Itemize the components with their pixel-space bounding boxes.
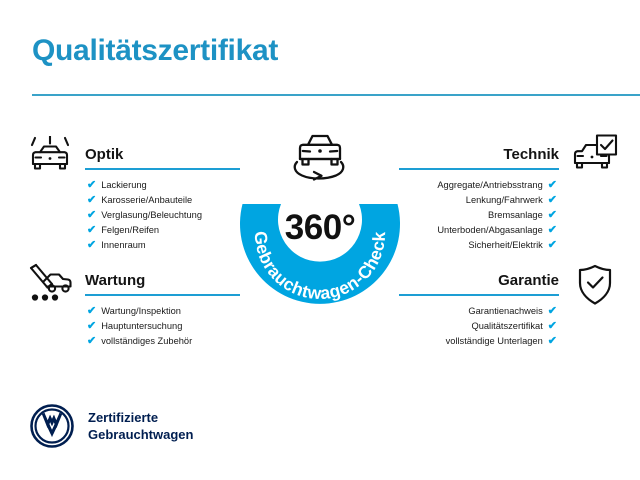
section-technik-list: Aggregate/Antriebsstrang✔ Lenkung/Fahrwe…: [437, 178, 557, 253]
footer-line-2: Gebrauchtwagen: [88, 426, 193, 443]
list-item-label: Bremsanlage: [488, 208, 543, 223]
car-checkbox-icon: [569, 133, 619, 182]
list-item-label: Innenraum: [101, 238, 145, 253]
list-item-label: Garantienachweis: [468, 304, 542, 319]
list-item: Qualitätszertifikat✔: [446, 319, 557, 334]
list-item-label: Qualitätszertifikat: [471, 319, 542, 334]
list-item: vollständige Unterlagen✔: [446, 334, 557, 349]
car-rotate-icon: [280, 118, 360, 195]
check-icon: ✔: [87, 195, 96, 206]
check-icon: ✔: [548, 195, 557, 206]
list-item: ✔vollständiges Zubehör: [87, 334, 192, 349]
section-wartung-title: Wartung: [85, 272, 145, 289]
check-icon: ✔: [548, 240, 557, 251]
check-icon: ✔: [87, 225, 96, 236]
list-item-label: Verglasung/Beleuchtung: [101, 208, 202, 223]
section-optik-list: ✔Lackierung ✔Karosserie/Anbauteile ✔Verg…: [87, 178, 202, 253]
vw-logo: [30, 404, 74, 448]
list-item-label: Lackierung: [101, 178, 146, 193]
list-item-label: vollständiges Zubehör: [101, 334, 192, 349]
section-garantie-header: Garantie: [399, 272, 559, 298]
check-icon: ✔: [548, 210, 557, 221]
list-item-label: Unterboden/Abgasanlage: [437, 223, 542, 238]
section-technik-divider: [399, 168, 559, 170]
list-item-label: Wartung/Inspektion: [101, 304, 181, 319]
list-item: Aggregate/Antriebsstrang✔: [437, 178, 557, 193]
list-item: Garantienachweis✔: [446, 304, 557, 319]
check-icon: ✔: [87, 240, 96, 251]
list-item: ✔Lackierung: [87, 178, 202, 193]
footer-wordmark: Zertifizierte Gebrauchtwagen: [88, 409, 193, 443]
check-icon: ✔: [548, 306, 557, 317]
footer-line-1: Zertifizierte: [88, 409, 193, 426]
list-item: ✔Wartung/Inspektion: [87, 304, 192, 319]
list-item: Unterboden/Abgasanlage✔: [437, 223, 557, 238]
list-item-label: Sicherheit/Elektrik: [468, 238, 542, 253]
list-item: Bremsanlage✔: [437, 208, 557, 223]
check-icon: ✔: [87, 210, 96, 221]
section-technik-header: Technik: [399, 146, 559, 172]
section-optik-title: Optik: [85, 146, 123, 163]
list-item-label: Lenkung/Fahrwerk: [466, 193, 543, 208]
section-wartung-divider: [85, 294, 240, 296]
section-technik: Technik Aggregate/Antriebsstrang✔ Lenkun…: [399, 146, 559, 172]
section-wartung: Wartung ✔Wartung/Inspektion ✔Hauptunters…: [85, 272, 243, 298]
page-title: Qualitätszertifikat: [32, 34, 278, 68]
list-item: Lenkung/Fahrwerk✔: [437, 193, 557, 208]
check-icon: ✔: [548, 180, 557, 191]
list-item: ✔Innenraum: [87, 238, 202, 253]
section-garantie-list: Garantienachweis✔ Qualitätszertifikat✔ v…: [446, 304, 557, 349]
list-item-label: Hauptuntersuchung: [101, 319, 182, 334]
list-item: ✔Karosserie/Anbauteile: [87, 193, 202, 208]
check-icon: ✔: [87, 306, 96, 317]
service-book-car-icon: [26, 263, 74, 310]
list-item: ✔Verglasung/Beleuchtung: [87, 208, 202, 223]
list-item: ✔Hauptuntersuchung: [87, 319, 192, 334]
section-wartung-header: Wartung: [85, 272, 243, 298]
check-icon: ✔: [87, 321, 96, 332]
section-garantie: Garantie Garantienachweis✔ Qualitätszert…: [399, 272, 559, 298]
section-garantie-divider: [399, 294, 559, 296]
list-item-label: Aggregate/Antriebsstrang: [437, 178, 542, 193]
car-shine-icon: [26, 136, 74, 183]
section-optik-header: Optik: [85, 146, 243, 172]
list-item-label: Karosserie/Anbauteile: [101, 193, 192, 208]
list-item: Sicherheit/Elektrik✔: [437, 238, 557, 253]
section-technik-title: Technik: [503, 146, 559, 163]
check-icon: ✔: [87, 336, 96, 347]
check-icon: ✔: [87, 180, 96, 191]
list-item-label: Felgen/Reifen: [101, 223, 159, 238]
check-icon: ✔: [548, 336, 557, 347]
check-icon: ✔: [548, 225, 557, 236]
list-item: ✔Felgen/Reifen: [87, 223, 202, 238]
qualitaetszertifikat-page: Qualitätszertifikat: [0, 0, 640, 480]
footer-branding: Zertifizierte Gebrauchtwagen: [30, 404, 193, 448]
check-icon: ✔: [548, 321, 557, 332]
section-wartung-list: ✔Wartung/Inspektion ✔Hauptuntersuchung ✔…: [87, 304, 192, 349]
section-garantie-title: Garantie: [498, 272, 559, 289]
section-optik: Optik ✔Lackierung ✔Karosserie/Anbauteile…: [85, 146, 243, 172]
header-divider: [32, 94, 640, 96]
list-item-label: vollständige Unterlagen: [446, 334, 543, 349]
badge-center-label: 360°: [228, 208, 412, 248]
section-optik-divider: [85, 168, 240, 170]
shield-check-icon: [575, 263, 615, 312]
badge-360-gebrauchtwagen-check: Gebrauchtwagen-Check: [228, 146, 412, 322]
